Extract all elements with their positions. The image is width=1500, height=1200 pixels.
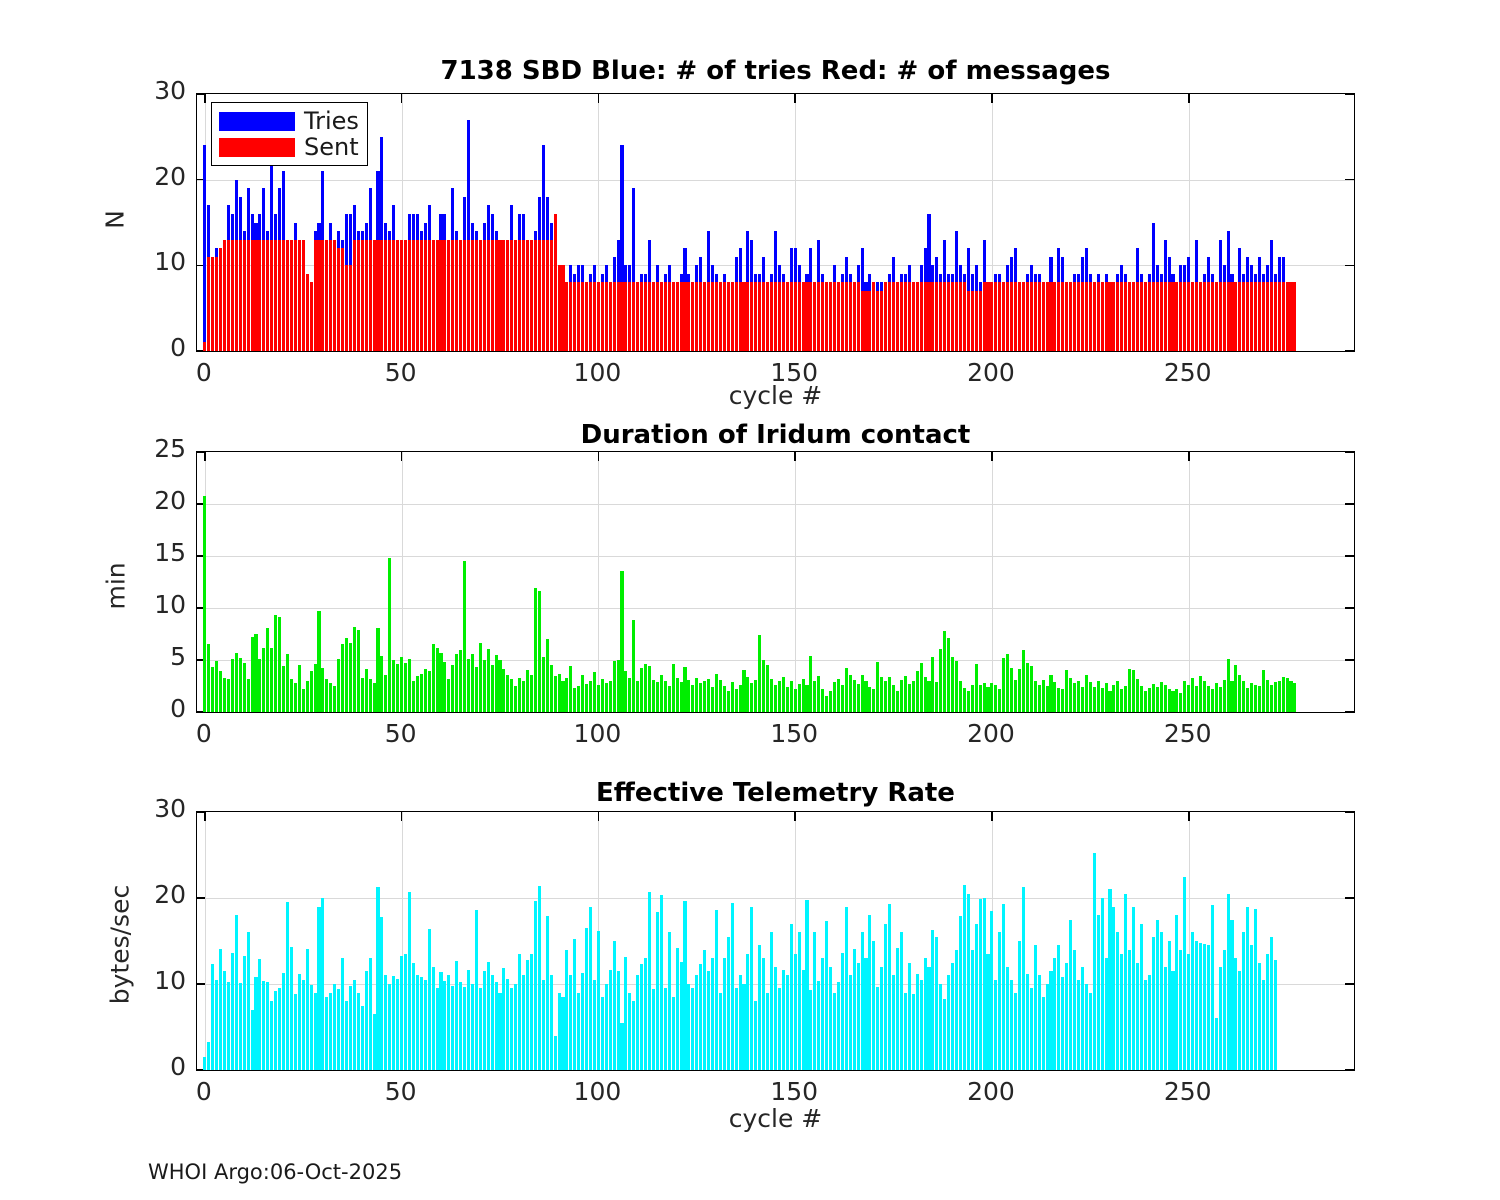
bar-rate [668, 932, 671, 1070]
bar-sent [447, 240, 450, 351]
bar-sent [620, 282, 623, 351]
bar-sent [805, 282, 808, 351]
bar-sent [707, 282, 710, 351]
legend-item-tries: Tries [219, 108, 359, 134]
bar-rate [620, 1023, 623, 1070]
bar-duration [1171, 691, 1174, 712]
bar-duration [451, 665, 454, 712]
x-tick-label: 50 [356, 1077, 446, 1106]
bar-sent [1089, 282, 1092, 351]
bar-duration [432, 644, 435, 712]
bar-duration [892, 685, 895, 712]
bar-duration [750, 683, 753, 712]
bar-rate [420, 977, 423, 1070]
bar-sent [695, 282, 698, 351]
bar-rate [270, 1001, 273, 1070]
bar-rate [809, 990, 812, 1070]
bar-rate [825, 921, 828, 1070]
bar-duration [1211, 689, 1214, 712]
bar-duration [416, 676, 419, 712]
bar-duration [1179, 693, 1182, 712]
x-tick-label: 250 [1143, 358, 1233, 387]
footer-credit: WHOI Argo:06-Oct-2025 [148, 1160, 402, 1184]
bar-sent [396, 240, 399, 351]
bar-sent [585, 282, 588, 351]
bar-sent [530, 240, 533, 351]
y-tick-label: 10 [130, 966, 186, 995]
bar-rate [648, 892, 651, 1070]
bar-duration [1018, 669, 1021, 712]
bar-duration [1101, 688, 1104, 712]
bar-duration [872, 689, 875, 712]
bar-sent [927, 282, 930, 351]
bar-sent [1164, 282, 1167, 351]
bar-rate [778, 988, 781, 1070]
bar-rate [1089, 993, 1092, 1070]
bar-sent [1215, 282, 1218, 351]
bar-duration [605, 683, 608, 712]
bar-sent [1140, 282, 1143, 351]
y-tick-label: 20 [130, 880, 186, 909]
y-tick-label: 10 [130, 247, 186, 276]
bar-sent [1132, 282, 1135, 351]
bar-sent [254, 240, 257, 351]
bar-rate [1270, 937, 1273, 1070]
bar-sent [691, 282, 694, 351]
bar-duration [849, 675, 852, 712]
bar-sent [420, 240, 423, 351]
bar-sent [888, 282, 891, 351]
bar-duration [939, 649, 942, 712]
bar-sent [1042, 282, 1045, 351]
bar-rate [526, 960, 529, 1070]
bar-sent [628, 282, 631, 351]
bar-sent [1195, 282, 1198, 351]
bar-duration [1286, 678, 1289, 712]
bar-duration [1089, 682, 1092, 712]
bar-duration [731, 682, 734, 712]
bar-rate [660, 895, 663, 1070]
bar-rate [1215, 1018, 1218, 1070]
bar-sent [746, 282, 749, 351]
bar-rate [266, 982, 269, 1070]
bar-rate [640, 964, 643, 1070]
bar-rate [361, 1006, 364, 1071]
panel-3-title: Effective Telemetry Rate [196, 778, 1355, 808]
bar-rate [790, 924, 793, 1070]
bar-rate [683, 901, 686, 1070]
bar-rate [857, 963, 860, 1071]
bar-rate [1108, 889, 1111, 1070]
bar-sent [1171, 282, 1174, 351]
bar-duration [408, 659, 411, 712]
bar-duration [1049, 675, 1052, 712]
bar-rate [912, 994, 915, 1070]
bar-sent [373, 240, 376, 351]
bar-sent [1246, 282, 1249, 351]
bar-sent [471, 240, 474, 351]
bar-sent [817, 282, 820, 351]
bar-sent [451, 240, 454, 351]
bar-sent [837, 282, 840, 351]
y-tick-label: 25 [130, 434, 186, 463]
bar-rate [770, 932, 773, 1070]
bar-sent [727, 282, 730, 351]
x-tick-label: 0 [159, 719, 249, 748]
bar-sent [935, 282, 938, 351]
bar-rate [432, 967, 435, 1070]
bar-duration [585, 684, 588, 712]
bar-duration [1112, 685, 1115, 712]
bar-duration [735, 689, 738, 712]
bar-rate [215, 980, 218, 1070]
bar-duration [1116, 681, 1119, 712]
bar-sent [1073, 282, 1076, 351]
bar-sent [498, 240, 501, 351]
bar-sent [369, 240, 372, 351]
x-tick-label: 0 [159, 1077, 249, 1106]
bar-sent [802, 282, 805, 351]
bar-duration [617, 660, 620, 712]
bar-duration [990, 683, 993, 712]
bar-duration [975, 664, 978, 712]
bar-rate [235, 915, 238, 1070]
bar-rate [1053, 958, 1056, 1070]
x-tick-label: 250 [1143, 719, 1233, 748]
bar-rate [636, 975, 639, 1070]
x-tick-label: 100 [552, 719, 642, 748]
bar-sent [1148, 282, 1151, 351]
bar-sent [723, 282, 726, 351]
bar-duration [955, 661, 958, 712]
bar-sent [1116, 282, 1119, 351]
bar-rate [1042, 997, 1045, 1070]
bar-rate [404, 954, 407, 1070]
bar-rate [294, 994, 297, 1070]
bar-rate [1101, 898, 1104, 1070]
bar-sent [601, 282, 604, 351]
bar-sent [1274, 282, 1277, 351]
bar-sent [1010, 282, 1013, 351]
bar-sent [353, 240, 356, 351]
bar-rate [927, 967, 930, 1070]
bar-sent [998, 282, 1001, 351]
bar-sent [983, 282, 986, 351]
bar-rate [1116, 932, 1119, 1070]
bar-sent [990, 282, 993, 351]
bar-tries [203, 145, 206, 351]
bar-rate [998, 932, 1001, 1070]
bar-rate [609, 970, 612, 1070]
bar-rate [1065, 963, 1068, 1071]
bar-rate [219, 949, 222, 1070]
bar-sent [758, 282, 761, 351]
bar-rate [707, 971, 710, 1070]
bar-sent [782, 282, 785, 351]
bar-rate [1034, 945, 1037, 1070]
bar-duration [908, 684, 911, 712]
bar-sent [333, 240, 336, 351]
bar-duration [825, 696, 828, 712]
bar-rate [357, 993, 360, 1070]
bar-rate [794, 954, 797, 1070]
bar-sent [778, 282, 781, 351]
bar-rate [463, 987, 466, 1070]
bar-layer [197, 812, 1354, 1070]
bar-duration [349, 643, 352, 712]
bar-duration [254, 634, 257, 712]
bar-rate [314, 993, 317, 1070]
bar-sent [1203, 282, 1206, 351]
bar-duration [1026, 663, 1029, 712]
bar-rate [1258, 963, 1261, 1071]
bar-rate [1112, 907, 1115, 1070]
bar-sent [986, 282, 989, 351]
bar-rate [487, 962, 490, 1070]
bar-duration [278, 617, 281, 712]
bar-rate [758, 945, 761, 1070]
bar-duration [597, 685, 600, 712]
bar-sent [1223, 282, 1226, 351]
bar-rate [742, 984, 745, 1070]
bar-sent [660, 282, 663, 351]
bar-rate [1022, 887, 1025, 1070]
bar-duration [1073, 683, 1076, 712]
bar-duration [672, 664, 675, 712]
bar-sent [739, 282, 742, 351]
bar-sent [554, 214, 557, 351]
bar-duration [357, 630, 360, 712]
bar-sent [1006, 282, 1009, 351]
bar-duration [302, 689, 305, 712]
bar-rate [451, 986, 454, 1070]
bar-duration [573, 688, 576, 712]
bar-sent [1242, 282, 1245, 351]
bar-rate [412, 963, 415, 1071]
bar-duration [439, 653, 442, 712]
bar-rate [1238, 971, 1241, 1070]
bar-sent [270, 240, 273, 351]
bar-rate [565, 950, 568, 1070]
bar-sent [428, 240, 431, 351]
bar-duration [333, 686, 336, 712]
bar-sent [1219, 282, 1222, 351]
bar-duration [1132, 670, 1135, 712]
bar-sent [321, 240, 324, 351]
bar-rate [329, 993, 332, 1070]
bar-rate [947, 975, 950, 1070]
legend-swatch-sent [219, 138, 295, 157]
bar-rate [644, 958, 647, 1070]
bar-duration [680, 682, 683, 712]
bar-duration [463, 561, 466, 712]
bar-rate [687, 984, 690, 1070]
bar-rate [428, 929, 431, 1070]
bar-sent [491, 240, 494, 351]
bar-rate [349, 986, 352, 1070]
bar-sent [341, 248, 344, 351]
bar-duration [1148, 688, 1151, 712]
bar-rate [943, 999, 946, 1070]
bar-rate [1069, 920, 1072, 1071]
bar-rate [231, 953, 234, 1070]
bar-duration [518, 678, 521, 712]
bar-sent [809, 282, 812, 351]
bar-duration [239, 658, 242, 712]
bar-rate [1234, 958, 1237, 1070]
bar-duration [203, 496, 206, 712]
bar-duration [1069, 678, 1072, 712]
bar-rate [1030, 988, 1033, 1070]
bar-sent [833, 282, 836, 351]
bar-sent [258, 240, 261, 351]
bar-sent [1038, 282, 1041, 351]
bar-sent [644, 282, 647, 351]
bar-rate [813, 932, 816, 1070]
bar-sent [1187, 282, 1190, 351]
bar-sent [325, 240, 328, 351]
bar-rate [935, 937, 938, 1070]
bar-sent [1018, 282, 1021, 351]
bar-sent [1191, 282, 1194, 351]
bar-rate [384, 975, 387, 1070]
bar-rate [203, 1057, 206, 1070]
bar-rate [703, 950, 706, 1070]
bar-duration [802, 679, 805, 712]
bar-sent [829, 282, 832, 351]
bar-sent [1057, 282, 1060, 351]
bar-sent [1112, 282, 1115, 351]
bar-duration [947, 638, 950, 712]
bar-sent [1136, 282, 1139, 351]
bar-rate [853, 949, 856, 1070]
bar-sent [880, 291, 883, 351]
bar-duration [262, 648, 265, 712]
bar-duration [774, 685, 777, 712]
bar-duration [837, 679, 840, 712]
bar-sent [424, 240, 427, 351]
bar-rate [502, 968, 505, 1070]
bar-duration [703, 681, 706, 712]
bar-duration [247, 679, 250, 712]
bar-sent [510, 240, 513, 351]
bar-rate [1057, 945, 1060, 1070]
bar-duration [900, 680, 903, 712]
bar-sent [534, 240, 537, 351]
bar-sent [1230, 282, 1233, 351]
bar-sent [542, 240, 545, 351]
bar-rate [931, 930, 934, 1070]
bar-duration [321, 668, 324, 712]
bar-duration [443, 662, 446, 712]
bar-sent [731, 282, 734, 351]
bar-duration [534, 588, 537, 712]
bar-sent [798, 282, 801, 351]
bar-duration [754, 680, 757, 712]
bar-duration [876, 662, 879, 712]
bar-sent [314, 240, 317, 351]
bar-sent [896, 282, 899, 351]
bar-sent [876, 291, 879, 351]
bar-rate [845, 907, 848, 1070]
bar-rate [1191, 932, 1194, 1070]
bar-rate [1171, 971, 1174, 1070]
bar-duration [1282, 677, 1285, 712]
bar-rate [786, 975, 789, 1070]
bar-duration [1105, 683, 1108, 712]
bar-sent [561, 265, 564, 351]
bar-duration [762, 660, 765, 712]
bar-rate [475, 910, 478, 1070]
bar-sent [565, 282, 568, 351]
bar-duration [640, 668, 643, 712]
bar-rate [471, 984, 474, 1070]
bar-rate [345, 1001, 348, 1070]
bar-sent [278, 240, 281, 351]
x-tick-label: 100 [552, 1077, 642, 1106]
bar-sent [609, 282, 612, 351]
bar-rate [581, 973, 584, 1070]
bar-sent [349, 265, 352, 351]
bar-duration [861, 675, 864, 712]
bar-sent [467, 240, 470, 351]
bar-sent [750, 282, 753, 351]
bar-sent [699, 282, 702, 351]
bar-duration [1195, 686, 1198, 712]
bar-sent [274, 240, 277, 351]
bar-sent [243, 240, 246, 351]
bar-rate [491, 975, 494, 1070]
bar-rate [884, 924, 887, 1070]
bar-duration [593, 672, 596, 712]
bar-rate [459, 982, 462, 1070]
bar-duration [420, 674, 423, 712]
bar-duration [963, 688, 966, 712]
bar-duration [695, 678, 698, 712]
bar-sent [872, 282, 875, 351]
bar-sent [640, 282, 643, 351]
bar-sent [538, 240, 541, 351]
bar-rate [558, 993, 561, 1070]
y-tick-label: 30 [130, 76, 186, 105]
bar-duration [223, 678, 226, 712]
bar-duration [1042, 680, 1045, 712]
bar-sent [1105, 282, 1108, 351]
bar-rate [262, 981, 265, 1070]
bar-rate [376, 887, 379, 1070]
bar-sent [1065, 282, 1068, 351]
bar-rate [538, 886, 541, 1070]
bar-duration [1227, 659, 1230, 712]
bar-sent [479, 240, 482, 351]
bar-sent [1108, 282, 1111, 351]
bar-sent [317, 240, 320, 351]
bar-rate [506, 979, 509, 1070]
bar-sent [207, 257, 210, 351]
bar-rate [833, 993, 836, 1070]
bar-sent [1022, 282, 1025, 351]
bar-rate [310, 985, 313, 1070]
bar-sent [1093, 282, 1096, 351]
bar-sent [683, 282, 686, 351]
bar-sent [337, 248, 340, 351]
bar-duration [483, 660, 486, 712]
bar-rate [243, 956, 246, 1070]
bar-rate [959, 916, 962, 1070]
bar-rate [754, 1001, 757, 1070]
bar-sent [931, 282, 934, 351]
bar-rate [1136, 963, 1139, 1071]
